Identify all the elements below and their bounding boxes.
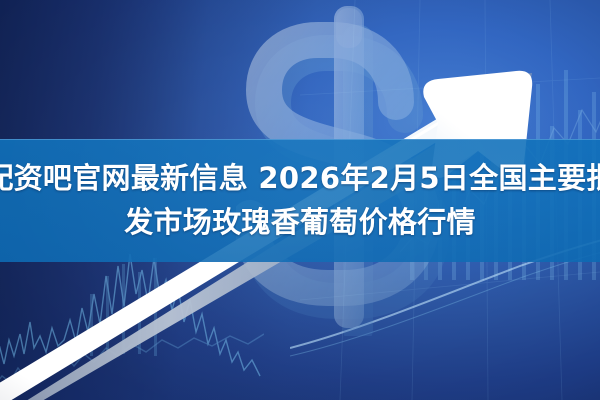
banner-image: 配资吧官网最新信息 2026年2月5日全国主要批 发市场玫瑰香葡萄价格行情: [0, 0, 600, 400]
headline-text: 配资吧官网最新信息 2026年2月5日全国主要批 发市场玫瑰香葡萄价格行情: [0, 139, 600, 262]
headline-line-1: 配资吧官网最新信息 2026年2月5日全国主要批: [0, 158, 600, 199]
headline-line-2: 发市场玫瑰香葡萄价格行情: [124, 202, 476, 243]
